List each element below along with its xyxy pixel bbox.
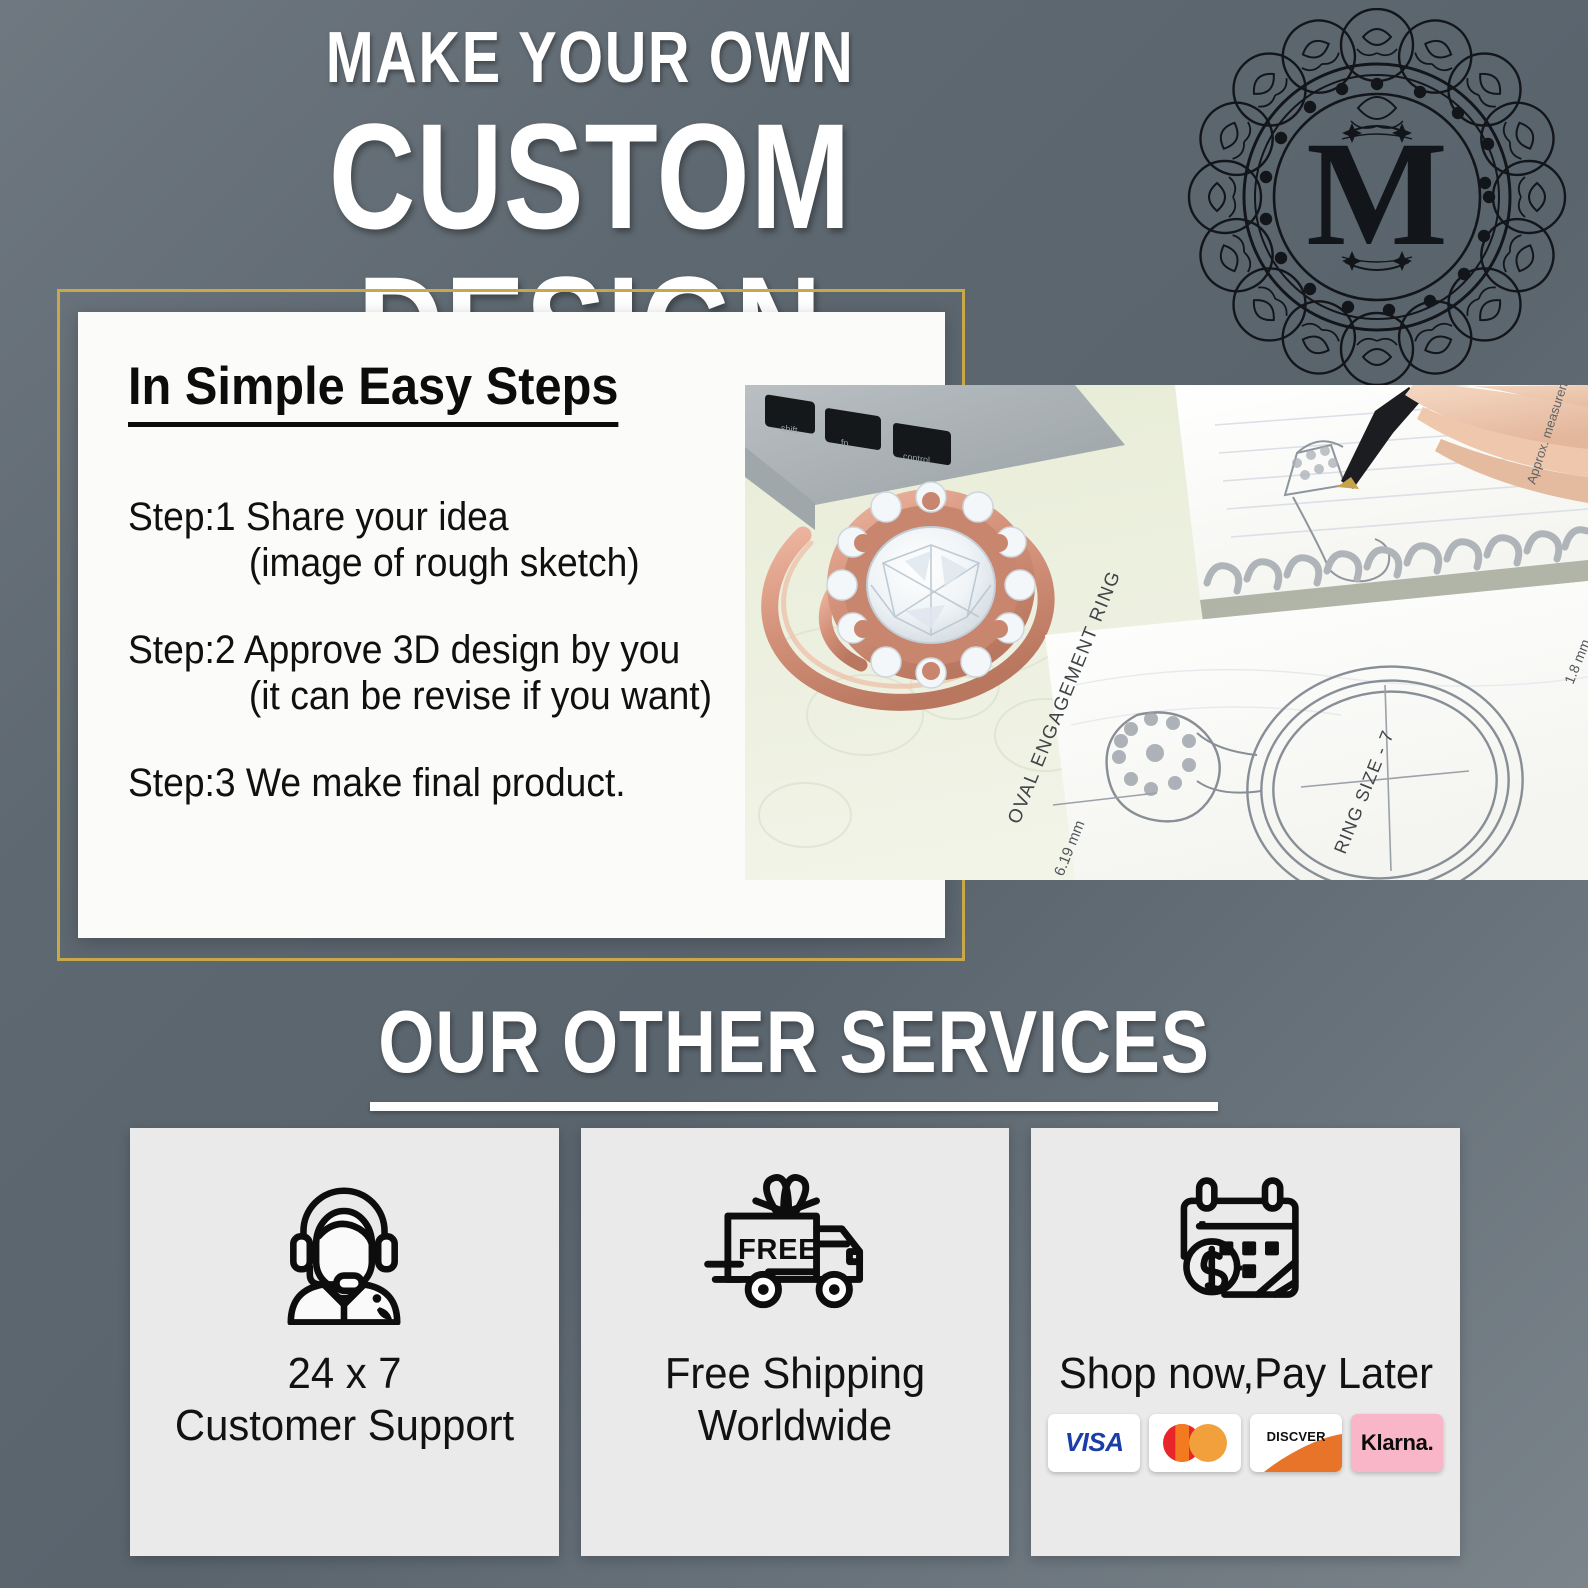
klarna-wordmark: Klarna.	[1361, 1430, 1433, 1456]
service-card-free-shipping[interactable]: FREE Free Shipping Worldwide	[581, 1128, 1010, 1556]
truck-free-text: FREE	[738, 1234, 818, 1266]
services-card-row: 24 x 7 Customer Support	[130, 1128, 1460, 1556]
brand-logo: M	[1182, 8, 1572, 386]
service-card-pay-later[interactable]: Shop now,Pay Later VISA DISCVER	[1031, 1128, 1460, 1556]
payment-badge-visa[interactable]: VISA	[1048, 1414, 1140, 1472]
paylater-label-line1: Shop now,Pay Later	[1059, 1349, 1433, 1398]
services-heading-underline	[370, 1102, 1218, 1111]
payment-methods-row: VISA DISCVER Klarna.	[1048, 1414, 1443, 1472]
shipping-label-line1: Free Shipping	[665, 1349, 925, 1398]
delivery-truck-gift-icon: FREE	[700, 1164, 890, 1334]
payment-badge-klarna[interactable]: Klarna.	[1351, 1414, 1443, 1472]
calendar-dollar-icon	[1161, 1164, 1331, 1334]
ring-design-photo: shift fn control	[745, 385, 1588, 880]
service-card-label: Free Shipping Worldwide	[665, 1348, 925, 1452]
ring-photo-illustration: shift fn control	[745, 385, 1588, 880]
payment-badge-discover[interactable]: DISCVER	[1250, 1414, 1342, 1472]
visa-wordmark: VISA	[1065, 1427, 1124, 1458]
sketch-sheet-bottom: OVAL ENGAGEMENT RING 6.19 mm RING SIZE -…	[1004, 567, 1588, 880]
services-heading: OUR OTHER SERVICES	[143, 998, 1445, 1086]
services-heading-block: OUR OTHER SERVICES	[0, 998, 1588, 1111]
shipping-label-line2: Worldwide	[665, 1400, 925, 1452]
service-card-label: 24 x 7 Customer Support	[175, 1348, 514, 1452]
promotional-poster: MAKE YOUR OWN CUSTOM DESIGN	[0, 0, 1588, 1588]
service-card-label: Shop now,Pay Later	[1059, 1348, 1433, 1400]
discover-wordmark: DISCVER	[1267, 1429, 1326, 1444]
monogram-letter: M	[1182, 119, 1572, 269]
headset-support-agent-icon	[268, 1164, 420, 1334]
service-card-customer-support[interactable]: 24 x 7 Customer Support	[130, 1128, 559, 1556]
support-label-line1: 24 x 7	[287, 1349, 401, 1398]
steps-card-title: In Simple Easy Steps	[128, 360, 619, 427]
support-label-line2: Customer Support	[175, 1400, 514, 1452]
payment-badge-mastercard[interactable]	[1149, 1414, 1241, 1472]
mastercard-circles-icon	[1163, 1424, 1227, 1462]
svg-text:fn: fn	[841, 437, 849, 448]
kicker-text: MAKE YOUR OWN	[118, 22, 1062, 94]
sketch-notebook-top: Approx. measurement	[1175, 385, 1588, 621]
